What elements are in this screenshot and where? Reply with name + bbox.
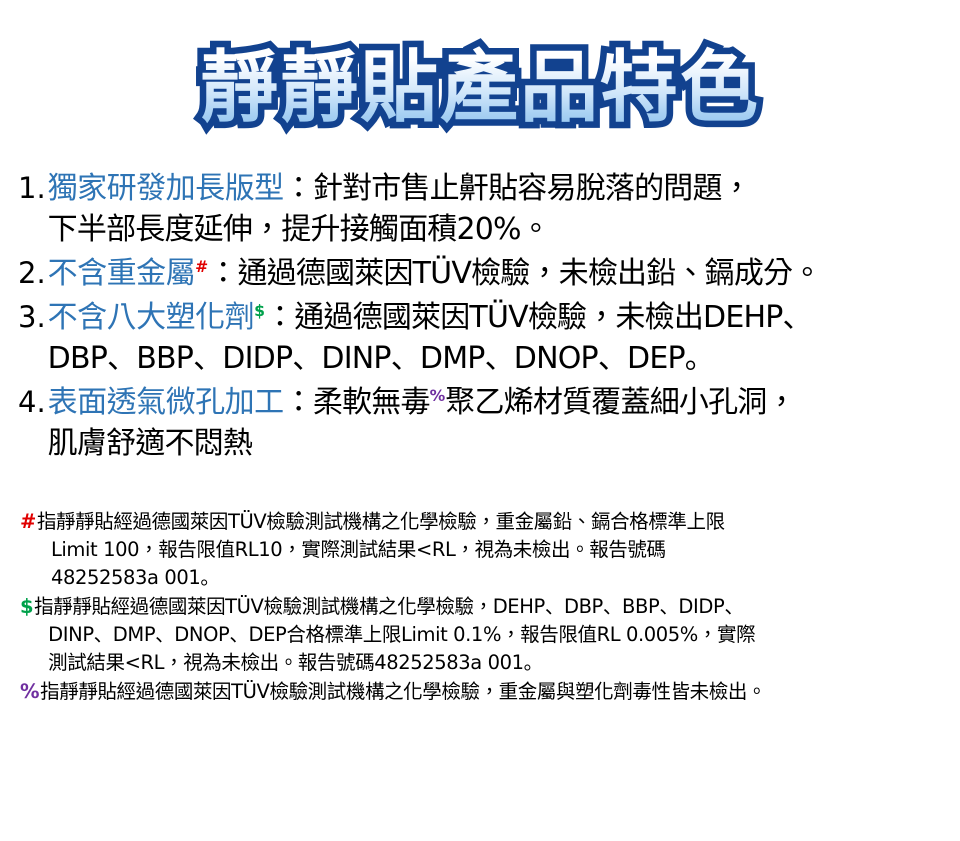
page-root: { "title": "靜靜貼產品特色", "features": [ { "n… xyxy=(0,0,960,841)
footnote-dollar-line2: DINP、DMP、DNOP、DEP合格標準上限Limit 0.1%，報告限值RL… xyxy=(34,621,950,649)
footnote-mark-hash-icon: # xyxy=(20,508,36,536)
feature-text-4-line1b: 聚乙烯材質覆蓋細小孔洞， xyxy=(445,385,795,420)
footnote-percent-text: 指靜靜貼經過德國萊因TÜV檢驗測試機構之化學檢驗，重金屬與塑化劑毒性皆未檢出。 xyxy=(40,678,950,706)
footnote-marker-hash-icon: # xyxy=(195,258,208,276)
title-block: 靜靜貼產品特色 靜靜貼產品特色 xyxy=(0,0,960,168)
footnote-hash-text: 指靜靜貼經過德國萊因TÜV檢驗測試機構之化學檢驗，重金屬鉛、鎘合格標準上限 Li… xyxy=(37,508,950,592)
footnote-dollar: $ 指靜靜貼經過德國萊因TÜV檢驗測試機構之化學檢驗，DEHP、DBP、BBP、… xyxy=(20,593,950,677)
footnote-marker-dollar-icon: $ xyxy=(254,302,265,320)
feature-text-1-line1: ：針對市售止鼾貼容易脫落的問題， xyxy=(284,171,751,206)
feature-text-3-line2: DBP、BBP、DIDP、DINP、DMP、DNOP、DEP。 xyxy=(48,341,714,376)
footnote-dollar-text: 指靜靜貼經過德國萊因TÜV檢驗測試機構之化學檢驗，DEHP、DBP、BBP、DI… xyxy=(34,593,950,677)
feature-number-3: 3. xyxy=(18,297,48,338)
footnote-mark-percent-icon: % xyxy=(20,678,39,706)
footnote-hash-line2: Limit 100，報告限值RL10，實際測試結果<RL，視為未檢出。報告號碼 xyxy=(37,536,950,564)
page-title: 靜靜貼產品特色 靜靜貼產品特色 xyxy=(200,49,760,127)
footnote-dollar-line3: 測試結果<RL，視為未檢出。報告號碼48252583a 001。 xyxy=(34,649,950,677)
feature-list: 1. 獨家研發加長版型：針對市售止鼾貼容易脫落的問題， 下半部長度延伸，提升接觸… xyxy=(0,168,960,464)
feature-number-1: 1. xyxy=(18,168,48,209)
feature-keyphrase-4: 表面透氣微孔加工 xyxy=(48,385,284,420)
feature-number-4: 4. xyxy=(18,382,48,423)
footnote-hash-line3: 48252583a 001。 xyxy=(37,564,950,592)
feature-body-3: 不含八大塑化劑$：通過德國萊因TÜV檢驗，未檢出DEHP、 DBP、BBP、DI… xyxy=(48,297,946,379)
feature-text-4-line2: 肌膚舒適不悶熱 xyxy=(48,426,252,461)
feature-text-3-line1: ：通過德國萊因TÜV檢驗，未檢出DEHP、 xyxy=(265,300,812,335)
feature-body-4: 表面透氣微孔加工：柔軟無毒%聚乙烯材質覆蓋細小孔洞， 肌膚舒適不悶熱 xyxy=(48,382,946,464)
feature-item-3: 3. 不含八大塑化劑$：通過德國萊因TÜV檢驗，未檢出DEHP、 DBP、BBP… xyxy=(18,297,946,379)
footnote-mark-dollar-icon: $ xyxy=(20,593,33,621)
feature-body-2: 不含重金屬#：通過德國萊因TÜV檢驗，未檢出鉛、鎘成分。 xyxy=(48,253,946,294)
page-title-fill: 靜靜貼產品特色 xyxy=(200,43,760,133)
feature-text-1-line2: 下半部長度延伸，提升接觸面積20%。 xyxy=(48,212,550,247)
feature-body-1: 獨家研發加長版型：針對市售止鼾貼容易脫落的問題， 下半部長度延伸，提升接觸面積2… xyxy=(48,168,946,250)
footnote-marker-percent-icon: % xyxy=(430,387,446,405)
footnote-dollar-line1: 指靜靜貼經過德國萊因TÜV檢驗測試機構之化學檢驗，DEHP、DBP、BBP、DI… xyxy=(34,593,950,621)
feature-item-2: 2. 不含重金屬#：通過德國萊因TÜV檢驗，未檢出鉛、鎘成分。 xyxy=(18,253,946,294)
feature-keyphrase-2: 不含重金屬 xyxy=(48,256,196,291)
feature-text-4-line1a: ：柔軟無毒 xyxy=(284,385,430,420)
feature-item-4: 4. 表面透氣微孔加工：柔軟無毒%聚乙烯材質覆蓋細小孔洞， 肌膚舒適不悶熱 xyxy=(18,382,946,464)
feature-number-2: 2. xyxy=(18,253,48,294)
feature-keyphrase-3: 不含八大塑化劑 xyxy=(48,300,255,335)
footnote-percent-line1: 指靜靜貼經過德國萊因TÜV檢驗測試機構之化學檢驗，重金屬與塑化劑毒性皆未檢出。 xyxy=(40,678,950,706)
footnote-hash: # 指靜靜貼經過德國萊因TÜV檢驗測試機構之化學檢驗，重金屬鉛、鎘合格標準上限 … xyxy=(20,508,950,592)
feature-keyphrase-1: 獨家研發加長版型 xyxy=(48,171,284,206)
feature-item-1: 1. 獨家研發加長版型：針對市售止鼾貼容易脫落的問題， 下半部長度延伸，提升接觸… xyxy=(18,168,946,250)
feature-text-2-line1: ：通過德國萊因TÜV檢驗，未檢出鉛、鎘成分。 xyxy=(208,256,821,291)
footnote-list: # 指靜靜貼經過德國萊因TÜV檢驗測試機構之化學檢驗，重金屬鉛、鎘合格標準上限 … xyxy=(0,508,960,706)
footnote-percent: % 指靜靜貼經過德國萊因TÜV檢驗測試機構之化學檢驗，重金屬與塑化劑毒性皆未檢出… xyxy=(20,678,950,706)
footnote-hash-line1: 指靜靜貼經過德國萊因TÜV檢驗測試機構之化學檢驗，重金屬鉛、鎘合格標準上限 xyxy=(37,508,950,536)
